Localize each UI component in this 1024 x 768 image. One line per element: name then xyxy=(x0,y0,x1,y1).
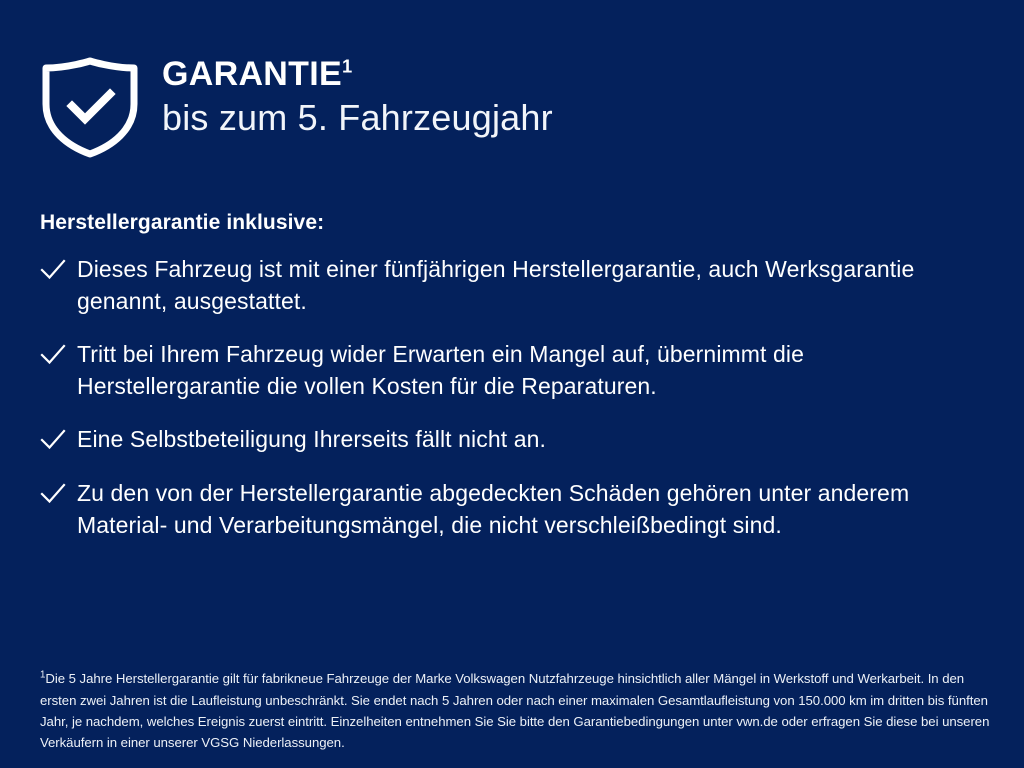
list-item-label: Eine Selbstbeteiligung Ihrerseits fällt … xyxy=(77,424,546,456)
list-item-label: Zu den von der Herstellergarantie abgede… xyxy=(77,478,957,542)
page-title: GARANTIE1 xyxy=(162,56,553,92)
check-icon xyxy=(40,481,66,511)
intro-heading: Herstellergarantie inklusive: xyxy=(40,210,970,236)
title-footnote-marker: 1 xyxy=(342,56,353,77)
list-item-label: Tritt bei Ihrem Fahrzeug wider Erwarten … xyxy=(77,339,957,403)
header: GARANTIE1 bis zum 5. Fahrzeugjahr xyxy=(40,52,553,158)
shield-check-icon xyxy=(40,56,140,158)
list-item: Tritt bei Ihrem Fahrzeug wider Erwarten … xyxy=(40,339,970,403)
list-item-label: Dieses Fahrzeug ist mit einer fünfjährig… xyxy=(77,254,957,318)
content-block: Herstellergarantie inklusive: Dieses Fah… xyxy=(40,210,970,542)
benefit-list: Dieses Fahrzeug ist mit einer fünfjährig… xyxy=(40,254,970,542)
check-icon xyxy=(40,257,66,287)
warranty-slide: GARANTIE1 bis zum 5. Fahrzeugjahr Herste… xyxy=(0,0,1024,768)
header-text: GARANTIE1 bis zum 5. Fahrzeugjahr xyxy=(162,52,553,139)
page-title-text: GARANTIE xyxy=(162,55,342,93)
page-subtitle: bis zum 5. Fahrzeugjahr xyxy=(162,96,553,139)
list-item: Dieses Fahrzeug ist mit einer fünfjährig… xyxy=(40,254,970,318)
check-icon xyxy=(40,342,66,372)
list-item: Eine Selbstbeteiligung Ihrerseits fällt … xyxy=(40,424,970,457)
list-item: Zu den von der Herstellergarantie abgede… xyxy=(40,478,970,542)
footnote-text: Die 5 Jahre Herstellergarantie gilt für … xyxy=(40,671,989,750)
check-icon xyxy=(40,427,66,457)
footnote: 1Die 5 Jahre Herstellergarantie gilt für… xyxy=(40,668,992,754)
